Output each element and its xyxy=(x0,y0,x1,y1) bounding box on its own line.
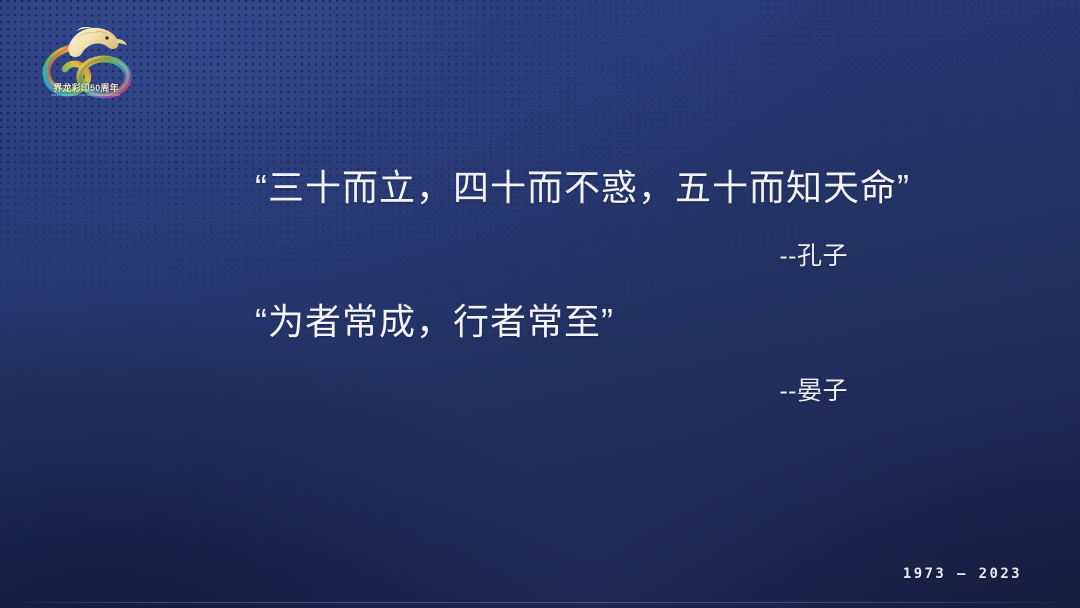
quote-content: “三十而立，四十而不惑，五十而知天命” --孔子 “为者常成，行者常至” --晏… xyxy=(0,0,1080,608)
quote-attribution-2: --晏子 xyxy=(779,371,848,407)
anniversary-years: 1973 — 2023 xyxy=(903,566,1022,582)
quote-text-2: “为者常成，行者常至” xyxy=(255,300,614,343)
presentation-slide: 界龙彩印50周年 JIELONG PRINTING 50th ANNIVERSA… xyxy=(0,0,1080,608)
quote-text-1: “三十而立，四十而不惑，五十而知天命” xyxy=(255,166,910,209)
quote-attribution-1: --孔子 xyxy=(779,236,848,272)
